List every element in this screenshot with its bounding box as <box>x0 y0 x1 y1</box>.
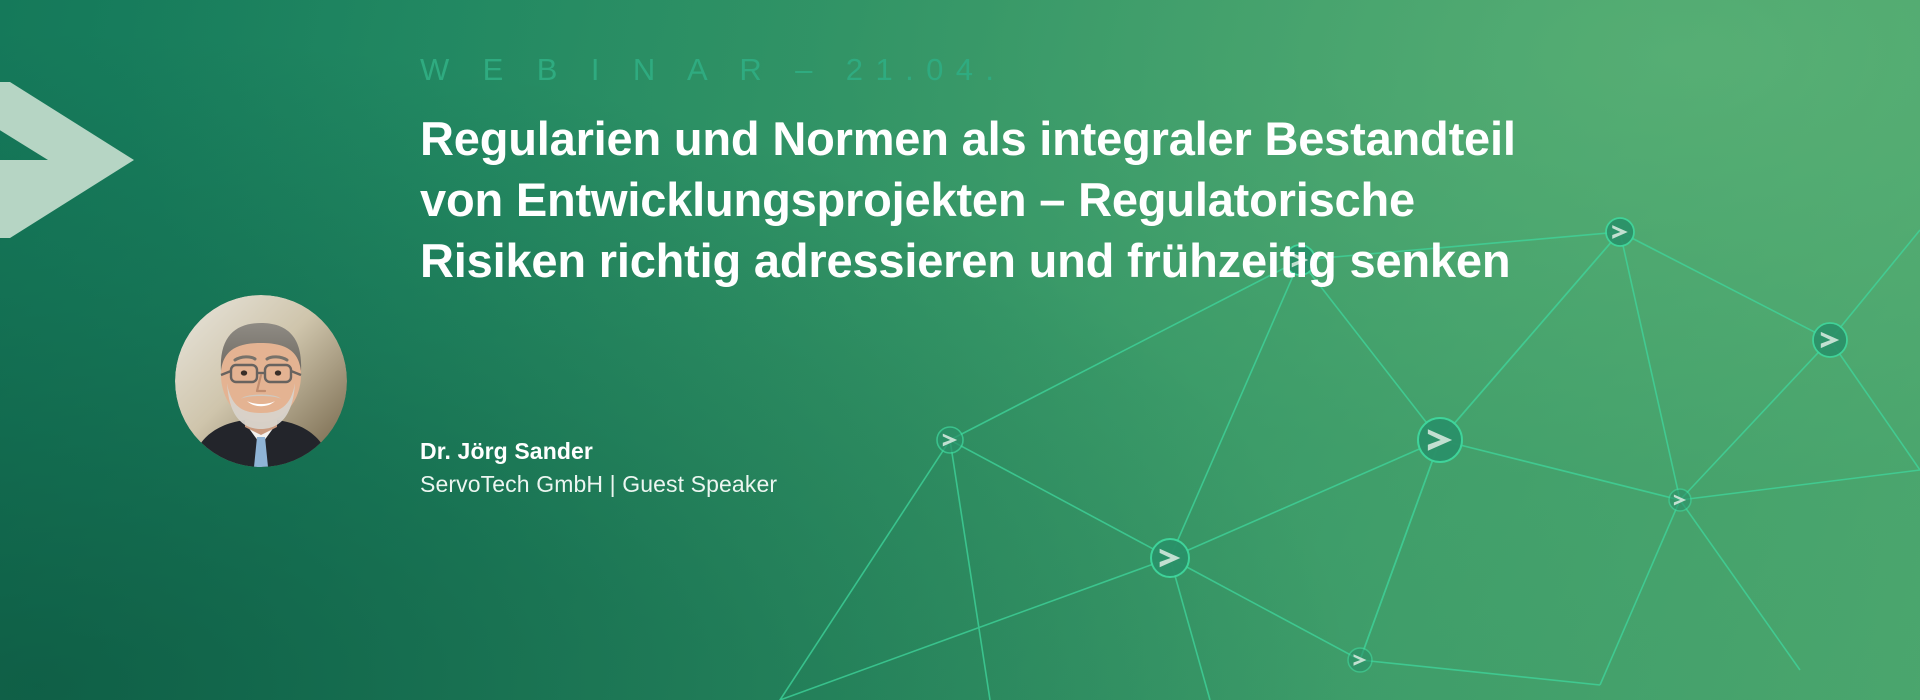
headline-line-1: Regularien und Normen als integraler Bes… <box>420 108 1710 169</box>
page-title: Regularien und Normen als integraler Bes… <box>420 108 1710 291</box>
headline-line-2: von Entwicklungsprojekten – Regulatorisc… <box>420 169 1710 230</box>
webinar-banner: W E B I N A R – 21.04. Regularien und No… <box>0 0 1920 700</box>
speaker-name: Dr. Jörg Sander <box>420 436 777 467</box>
banner-content: W E B I N A R – 21.04. Regularien und No… <box>420 52 1720 291</box>
speaker-portrait-avatar <box>175 295 347 467</box>
double-chevron-right-icon <box>0 60 182 260</box>
speaker-affiliation: ServoTech GmbH | Guest Speaker <box>420 469 777 500</box>
speaker-info: Dr. Jörg Sander ServoTech GmbH | Guest S… <box>420 436 777 500</box>
headline-line-3: Risiken richtig adressieren und frühzeit… <box>420 230 1710 291</box>
webinar-eyebrow-label: W E B I N A R – 21.04. <box>420 52 1720 88</box>
